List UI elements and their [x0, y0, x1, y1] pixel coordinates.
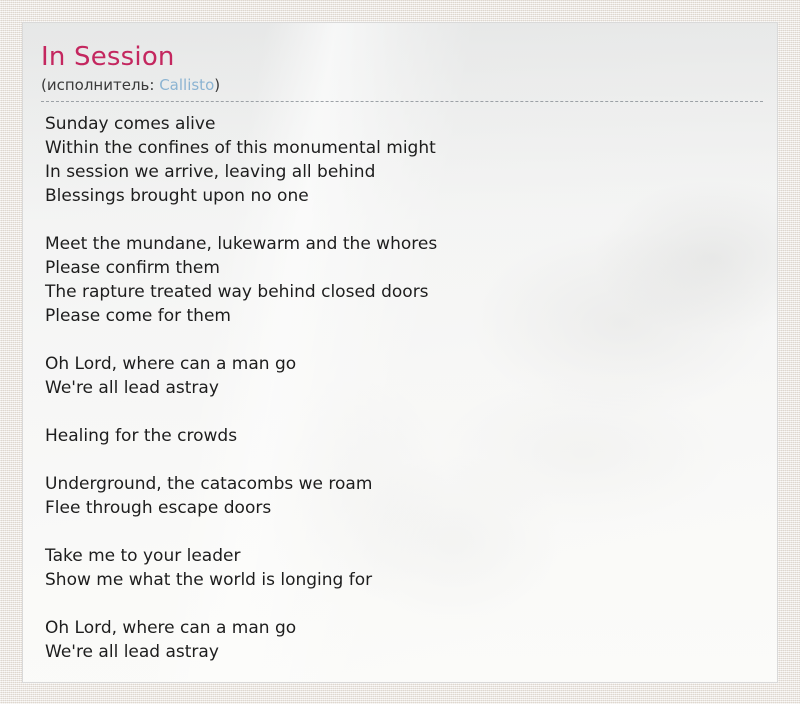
lyric-line: Oh Lord, where can a man go: [45, 352, 757, 376]
lyric-line: Oh Lord, where can a man go: [45, 616, 757, 640]
artist-link[interactable]: Callisto: [159, 76, 214, 94]
lyric-blank-line: [45, 520, 757, 544]
header-divider: [41, 101, 763, 102]
lyric-blank-line: [45, 592, 757, 616]
lyric-line: Please confirm them: [45, 256, 757, 280]
lyric-blank-line: [45, 328, 757, 352]
lyric-line: Sunday comes alive: [45, 112, 757, 136]
lyric-line: The rapture treated way behind closed do…: [45, 280, 757, 304]
lyric-blank-line: [45, 400, 757, 424]
lyric-blank-line: [45, 208, 757, 232]
lyric-line: Please come for them: [45, 304, 757, 328]
lyric-line: Within the confines of this monumental m…: [45, 136, 757, 160]
card-content: In Session (исполнитель: Callisto) Sunda…: [23, 23, 777, 664]
lyric-line: Show me what the world is longing for: [45, 568, 757, 592]
lyric-line: We're all lead astray: [45, 640, 757, 664]
lyrics-body: Sunday comes aliveWithin the confines of…: [45, 112, 757, 664]
lyric-line: Underground, the catacombs we roam: [45, 472, 757, 496]
lyric-line: Meet the mundane, lukewarm and the whore…: [45, 232, 757, 256]
artist-suffix-label: ): [214, 76, 220, 94]
lyrics-card: In Session (исполнитель: Callisto) Sunda…: [22, 22, 778, 683]
lyric-line: Flee through escape doors: [45, 496, 757, 520]
lyric-line: We're all lead astray: [45, 376, 757, 400]
lyric-line: Take me to your leader: [45, 544, 757, 568]
lyric-blank-line: [45, 448, 757, 472]
lyric-line: Healing for the crowds: [45, 424, 757, 448]
page-title: In Session: [41, 41, 757, 73]
page-root: In Session (исполнитель: Callisto) Sunda…: [0, 0, 800, 704]
lyric-line: Blessings brought upon no one: [45, 184, 757, 208]
artist-prefix-label: (исполнитель:: [41, 76, 159, 94]
artist-line: (исполнитель: Callisto): [41, 75, 757, 95]
lyric-line: In session we arrive, leaving all behind: [45, 160, 757, 184]
